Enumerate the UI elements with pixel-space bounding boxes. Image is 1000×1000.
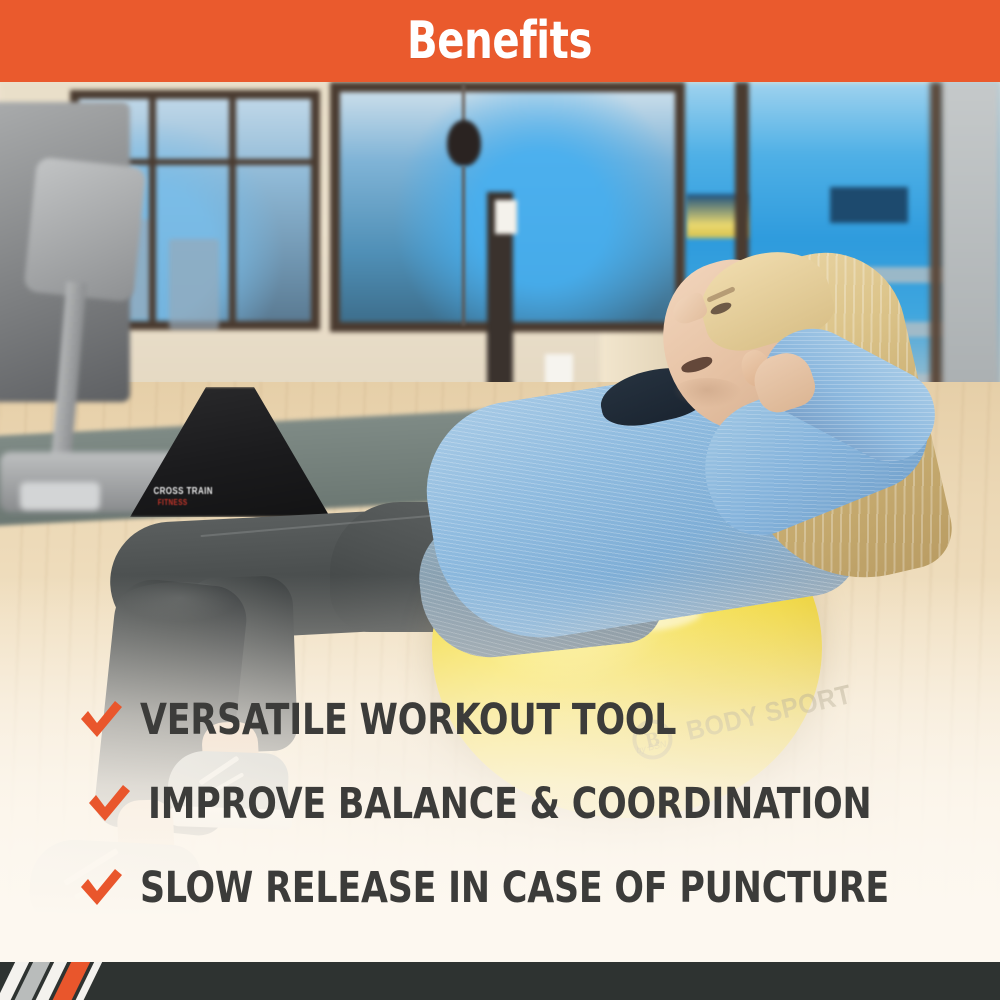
cable-cord (462, 84, 465, 124)
gym-wall-far-right (940, 82, 1000, 412)
check-icon (78, 866, 124, 910)
check-icon (78, 698, 124, 742)
benefit-label: SLOW RELEASE IN CASE OF PUNCTURE (140, 867, 889, 910)
benefits-poster: Benefits (0, 0, 1000, 1000)
footer-bar (0, 962, 1000, 1000)
bench-logo-line2: FITNESS (158, 498, 188, 507)
window-mullion (149, 99, 156, 321)
knee-highlight (120, 582, 240, 622)
cable-cord (462, 166, 465, 326)
header-banner: Benefits (0, 0, 1000, 82)
bench-logo-line1: CROSS TRAIN (153, 486, 213, 497)
benefit-label: VERSATILE WORKOUT TOOL (140, 699, 676, 742)
benefits-list: VERSATILE WORKOUT TOOL IMPROVE BALANCE &… (0, 678, 1000, 930)
gym-equipment-blur (169, 239, 219, 329)
punching-bag-icon (447, 120, 481, 166)
cardio-machine-seat (23, 157, 147, 303)
cardio-machine-footplate (20, 482, 100, 510)
window-frame-post (930, 82, 942, 412)
benefit-item: IMPROVE BALANCE & COORDINATION (0, 762, 1000, 846)
benefit-item: VERSATILE WORKOUT TOOL (0, 678, 1000, 762)
page-title: Benefits (408, 15, 593, 67)
gym-monitor-secondary-icon (830, 187, 908, 223)
wall-sign (495, 200, 517, 234)
person-chin-shadow (672, 378, 742, 408)
window-mullion (229, 99, 236, 321)
benefit-label: IMPROVE BALANCE & COORDINATION (148, 783, 872, 826)
check-icon (86, 782, 132, 826)
benefit-item: SLOW RELEASE IN CASE OF PUNCTURE (0, 846, 1000, 930)
